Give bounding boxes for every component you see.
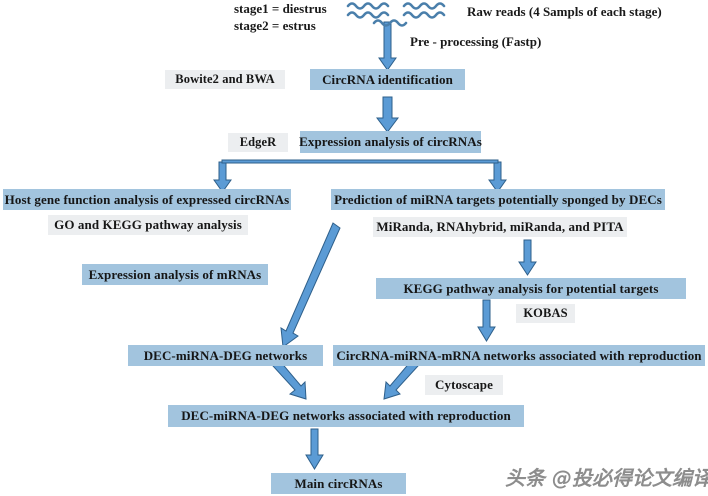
tool-go-kegg[interactable]: GO and KEGG pathway analysis: [48, 215, 248, 235]
tool-mirna-prediction-tools[interactable]: MiRanda, RNAhybrid, miRanda, and PITA: [373, 217, 627, 237]
wavy-reads-icon: [344, 1, 456, 27]
arrow-networks-to-reproduction: [384, 361, 418, 399]
step-host-gene-function[interactable]: Host gene function analysis of expressed…: [3, 189, 291, 210]
arrow-kegg-to-networks: [478, 300, 495, 341]
arrow-expression-to-prediction: [489, 162, 506, 192]
arrow-dec-to-reproduction: [273, 361, 306, 399]
tool-bowtie-bwa[interactable]: Bowite2 and BWA: [165, 70, 285, 89]
arrow-diagonal-to-dec-networks: [281, 223, 340, 347]
raw-reads-label: Raw reads (4 Sampls of each stage): [467, 3, 662, 21]
step-circrna-mirna-mrna-networks[interactable]: CircRNA-miRNA-mRNA networks associated w…: [333, 345, 705, 366]
watermark: 头条 @投必得论文编译: [505, 462, 708, 491]
arrow-prediction-to-kegg: [519, 240, 536, 275]
arrow-reads-to-identification: [379, 22, 396, 70]
step-expression-analysis-mrnas[interactable]: Expression analysis of mRNAs: [82, 264, 268, 285]
stage2-note: stage2 = estrus: [234, 17, 316, 35]
step-main-circrnas[interactable]: Main circRNAs: [271, 473, 406, 494]
step-circrna-identification[interactable]: CircRNA identification: [310, 69, 465, 90]
tool-cytoscape[interactable]: Cytoscape: [425, 375, 503, 395]
arrow-reproduction-to-main: [306, 429, 323, 469]
step-expression-analysis-circrnas[interactable]: Expression analysis of circRNAs: [300, 131, 481, 153]
step-prediction-mirna-targets[interactable]: Prediction of miRNA targets potentially …: [331, 189, 665, 210]
arrow-expression-to-hostgene: [214, 162, 231, 192]
arrow-identification-to-expression: [377, 97, 398, 132]
connector-expression-split: [222, 160, 498, 163]
step-kegg-potential-targets[interactable]: KEGG pathway analysis for potential targ…: [376, 278, 686, 299]
tool-kobas[interactable]: KOBAS: [516, 304, 575, 323]
flowchart-canvas: stage1 = diestrus stage2 = estrus Raw re…: [0, 0, 708, 496]
step-dec-mirna-deg-reproduction[interactable]: DEC-miRNA-DEG networks associated with r…: [168, 405, 524, 427]
step-dec-mirna-deg-networks[interactable]: DEC-miRNA-DEG networks: [128, 345, 323, 366]
tool-edger[interactable]: EdgeR: [228, 133, 288, 152]
pre-processing-label: Pre - processing (Fastp): [410, 33, 541, 51]
stage1-note: stage1 = diestrus: [234, 0, 327, 18]
